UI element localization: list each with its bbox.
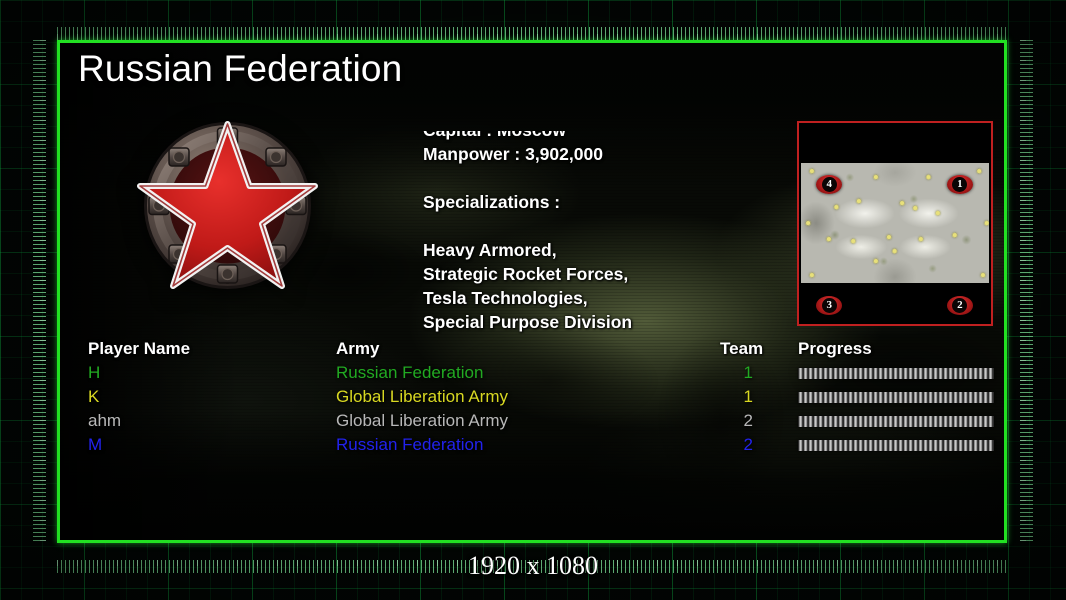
minimap-resource-icon: ✹ (825, 237, 831, 243)
player-team-cell: 2 (723, 435, 753, 455)
specialization-item: Heavy Armored, (423, 238, 632, 262)
minimap-resource-icon: ✹ (891, 249, 897, 255)
minimap-resource-icon: ✹ (856, 199, 862, 205)
player-team-cell: 1 (723, 363, 753, 383)
minimap-resource-icon: ✹ (934, 211, 940, 217)
player-army-cell: Russian Federation (336, 363, 483, 383)
player-team-cell: 2 (723, 411, 753, 431)
player-progress-bar (798, 416, 994, 427)
minimap-resource-icon: ✹ (925, 175, 931, 181)
player-army-cell: Global Liberation Army (336, 411, 508, 431)
minimap-resource-icon: ✹ (886, 235, 892, 241)
minimap-resource-icon: ✹ (850, 239, 856, 245)
minimap-resource-icon: ✹ (951, 233, 957, 239)
specializations-label: Specializations : (423, 190, 632, 214)
minimap-resource-icon: ✹ (805, 221, 811, 227)
player-progress-bar (798, 368, 994, 379)
minimap-resource-icon: ✹ (918, 237, 924, 243)
specialization-item: Tesla Technologies, (423, 286, 632, 310)
red-star-emblem-icon (136, 114, 319, 297)
minimap-resource-icon: ✹ (983, 221, 989, 227)
player-team-cell: 1 (723, 387, 753, 407)
header-team: Team (720, 339, 763, 359)
start-position-number: 3 (822, 298, 837, 313)
manpower-line: Manpower : 3,902,000 (423, 142, 632, 166)
player-progress-bar (798, 392, 994, 403)
minimap-resource-icon: ✹ (976, 169, 982, 175)
minimap-resource-icon: ✹ (809, 169, 815, 175)
start-position-number: 1 (952, 177, 967, 192)
specialization-item: Strategic Rocket Forces, (423, 262, 632, 286)
player-progress-bar (798, 440, 994, 451)
faction-info-panel: Capital : Moscow Manpower : 3,902,000 Sp… (423, 131, 723, 334)
header-progress: Progress (798, 339, 872, 359)
minimap-preview[interactable]: ✹✹✹✹✹✹✹✹✹✹✹✹✹✹✹✹✹✹✹✹ 4132 (797, 121, 993, 326)
player-army-cell: Global Liberation Army (336, 387, 508, 407)
start-position-number: 4 (822, 177, 837, 192)
minimap-resource-icon: ✹ (833, 205, 839, 211)
player-list-table: Player Name Army Team Progress HRussian … (88, 339, 978, 459)
start-position-number: 2 (952, 298, 967, 313)
minimap-resource-icon: ✹ (980, 273, 986, 279)
player-name-cell: H (88, 363, 100, 383)
capital-line: Capital : Moscow (423, 131, 632, 142)
game-screen-frame: Russian Federation (57, 40, 1007, 543)
table-row[interactable]: KGlobal Liberation Army1 (88, 387, 978, 411)
minimap-resource-icon: ✹ (809, 273, 815, 279)
minimap-start-position-2[interactable]: 2 (947, 296, 973, 315)
minimap-resource-icon: ✹ (899, 201, 905, 207)
table-row[interactable]: MRussian Federation2 (88, 435, 978, 459)
header-army: Army (336, 339, 379, 359)
player-name-cell: ahm (88, 411, 121, 431)
table-header-row: Player Name Army Team Progress (88, 339, 978, 363)
header-player-name: Player Name (88, 339, 190, 359)
player-name-cell: K (88, 387, 99, 407)
minimap-resource-icon: ✹ (872, 259, 878, 265)
specialization-item: Special Purpose Division (423, 310, 632, 334)
minimap-resource-icon: ✹ (912, 206, 918, 212)
player-name-cell: M (88, 435, 102, 455)
resolution-label: 1920 x 1080 (0, 551, 1066, 581)
minimap-start-position-3[interactable]: 3 (816, 296, 842, 315)
minimap-start-position-1[interactable]: 1 (947, 175, 973, 194)
minimap-resource-icon: ✹ (872, 175, 878, 181)
player-army-cell: Russian Federation (336, 435, 483, 455)
page-title: Russian Federation (78, 48, 402, 90)
designer-canvas: Russian Federation (0, 0, 1066, 600)
table-row[interactable]: ahmGlobal Liberation Army2 (88, 411, 978, 435)
table-row[interactable]: HRussian Federation1 (88, 363, 978, 387)
